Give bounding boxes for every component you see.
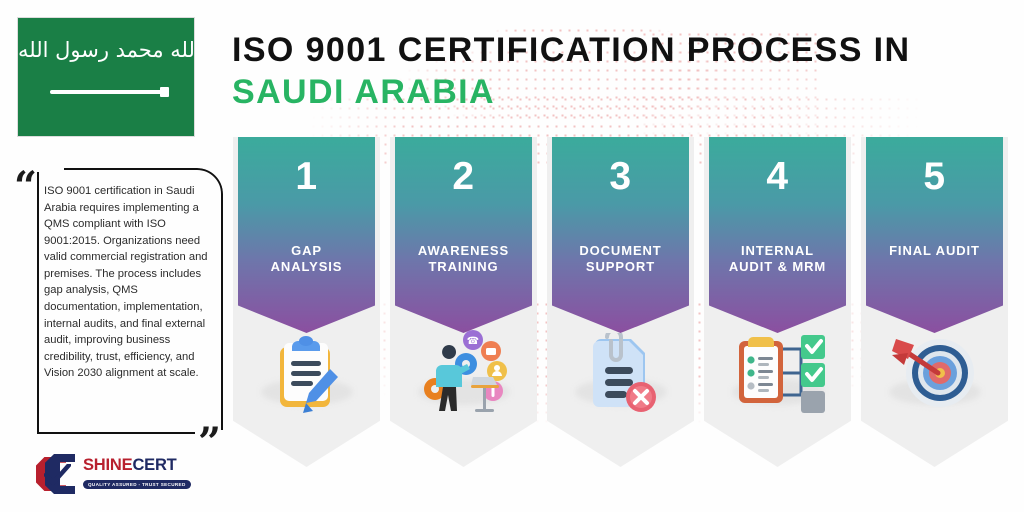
checkmark-icon bbox=[44, 464, 71, 486]
logo-name-part2: CERT bbox=[132, 456, 176, 474]
infographic-root: لا إله إلا الله محمد رسول الله ISO 9001 … bbox=[0, 0, 1024, 512]
step-card-3[interactable]: 3 DOCUMENTSUPPORT bbox=[547, 137, 694, 467]
step-card-4[interactable]: 4 INTERNALAUDIT & MRM bbox=[704, 137, 851, 467]
step-icon-slot bbox=[704, 319, 851, 415]
step-banner: 3 DOCUMENTSUPPORT bbox=[552, 137, 689, 333]
step-number: 5 bbox=[923, 157, 945, 196]
shinecert-logo[interactable]: SHINECERT QUALITY ASSURED - TRUST SECURE… bbox=[36, 452, 214, 496]
page-title: ISO 9001 CERTIFICATION PROCESS IN SAUDI … bbox=[232, 31, 1004, 111]
step-label: FINAL AUDIT bbox=[885, 243, 984, 259]
title-line-1: ISO 9001 CERTIFICATION PROCESS IN bbox=[232, 31, 1004, 69]
step-icon-slot bbox=[233, 319, 380, 415]
step-card-1[interactable]: 1 GAPANALYSIS bbox=[233, 137, 380, 467]
step-number: 4 bbox=[766, 157, 788, 196]
logo-tagline: QUALITY ASSURED - TRUST SECURED bbox=[83, 480, 191, 489]
step-icon-slot: ☎ bbox=[390, 319, 537, 415]
process-steps: 1 GAPANALYSIS bbox=[233, 137, 1008, 467]
step-number: 2 bbox=[452, 157, 474, 196]
step-label: DOCUMENTSUPPORT bbox=[575, 243, 665, 275]
step-number: 1 bbox=[295, 157, 317, 196]
step-number: 3 bbox=[609, 157, 631, 196]
title-line-2: SAUDI ARABIA bbox=[232, 73, 1004, 111]
step-banner: 4 INTERNALAUDIT & MRM bbox=[709, 137, 846, 333]
saudi-arabia-flag: لا إله إلا الله محمد رسول الله bbox=[17, 17, 195, 137]
step-banner: 2 AWARENESSTRAINING bbox=[395, 137, 532, 333]
step-label: INTERNALAUDIT & MRM bbox=[725, 243, 830, 275]
flag-sword-icon bbox=[50, 90, 164, 94]
clipboard-pen-icon bbox=[270, 335, 344, 415]
step-card-5[interactable]: 5 FINAL AUDIT bbox=[861, 137, 1008, 467]
step-label: AWARENESSTRAINING bbox=[414, 243, 513, 275]
document-clip-icon bbox=[583, 333, 659, 415]
step-card-2[interactable]: 2 AWARENESSTRAINING ☎ bbox=[390, 137, 537, 467]
step-banner: 1 GAPANALYSIS bbox=[238, 137, 375, 333]
target-dart-icon bbox=[890, 333, 980, 415]
step-icon-slot bbox=[861, 319, 1008, 415]
step-label: GAPANALYSIS bbox=[267, 243, 347, 275]
quote-open-icon: “ bbox=[14, 175, 37, 199]
step-icon-slot bbox=[547, 319, 694, 415]
training-person-icon: ☎ bbox=[419, 329, 509, 415]
logo-wordmark: SHINECERT QUALITY ASSURED - TRUST SECURE… bbox=[83, 457, 191, 492]
checklist-audit-icon bbox=[731, 333, 825, 415]
svg-text:☎: ☎ bbox=[466, 336, 478, 347]
logo-name-part1: SHINE bbox=[83, 456, 132, 474]
quote-text: ISO 9001 certification in Saudi Arabia r… bbox=[44, 183, 208, 382]
quote-block: “ ISO 9001 certification in Saudi Arabia… bbox=[10, 155, 222, 445]
flag-shahada-text: لا إله إلا الله محمد رسول الله bbox=[18, 40, 194, 61]
logo-mark-icon bbox=[36, 454, 76, 494]
step-banner: 5 FINAL AUDIT bbox=[866, 137, 1003, 333]
